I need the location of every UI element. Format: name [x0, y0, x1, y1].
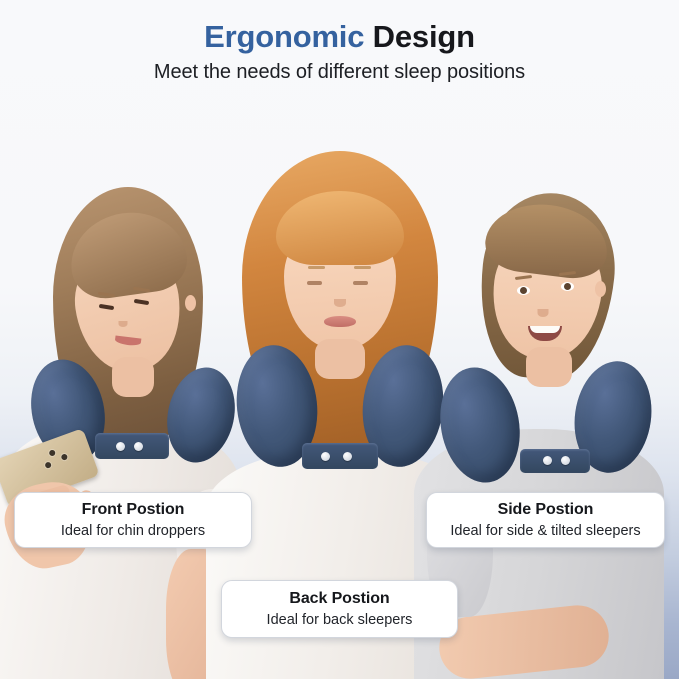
person-right-side-position: [419, 134, 679, 679]
right-girl-teeth: [530, 326, 560, 333]
center-girl-mouth-smirk: [324, 316, 356, 327]
pillow-snap-button-2: [343, 452, 352, 461]
pillow-snap-button-1: [543, 456, 552, 465]
center-girl-nose: [334, 299, 346, 307]
title-rest-word: Design: [364, 19, 475, 54]
promo-canvas: Ergonomic Design Meet the needs of diffe…: [0, 0, 679, 679]
left-girl-nose: [119, 321, 128, 327]
phone-camera-lens-3: [44, 461, 52, 469]
caption-front-subtitle: Ideal for chin droppers: [61, 522, 205, 541]
phone-camera-lens-2: [61, 453, 69, 461]
pillow-strap: [520, 449, 590, 473]
caption-front-title: Front Postion: [82, 500, 185, 520]
center-girl-eye-right-closed: [353, 281, 368, 285]
pillow-snap-button-2: [561, 456, 570, 465]
caption-side-title: Side Postion: [498, 500, 594, 520]
caption-front-position: Front Postion Ideal for chin droppers: [14, 492, 252, 548]
title-accent-word: Ergonomic: [204, 19, 364, 54]
page-subtitle: Meet the needs of different sleep positi…: [0, 61, 679, 84]
pillow-strap: [95, 433, 169, 459]
pillow-snap-button-2: [134, 442, 143, 451]
caption-back-subtitle: Ideal for back sleepers: [267, 611, 413, 630]
right-girl-eye-left: [517, 286, 530, 295]
caption-side-subtitle: Ideal for side & tilted sleepers: [450, 522, 640, 541]
right-girl-ear: [595, 281, 606, 297]
right-girl-travel-pillow: [449, 361, 645, 483]
caption-side-position: Side Postion Ideal for side & tilted sle…: [426, 492, 665, 548]
caption-back-position: Back Postion Ideal for back sleepers: [221, 580, 458, 638]
caption-back-title: Back Postion: [289, 589, 389, 609]
center-girl-eye-left-closed: [307, 281, 322, 285]
page-title: Ergonomic Design: [0, 19, 679, 55]
center-girl-brow-right: [354, 266, 371, 269]
pillow-snap-button-1: [116, 442, 125, 451]
product-photo-group: [0, 0, 679, 679]
header: Ergonomic Design Meet the needs of diffe…: [0, 0, 679, 84]
right-girl-eye-right: [561, 282, 574, 291]
center-girl-travel-pillow: [237, 345, 443, 475]
right-girl-nose: [538, 309, 549, 317]
pillow-snap-button-1: [321, 452, 330, 461]
pillow-strap: [302, 443, 378, 469]
phone-camera-lens-1: [48, 449, 56, 457]
center-girl-brow-left: [308, 266, 325, 269]
